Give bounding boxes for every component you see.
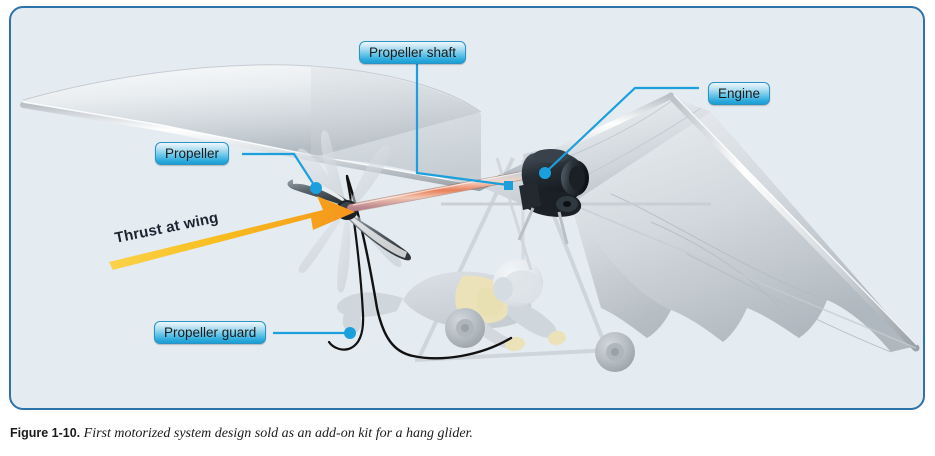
figure-caption-number: Figure 1-10. [10, 426, 80, 440]
figure-caption: Figure 1-10. First motorized system desi… [10, 426, 910, 442]
figure-frame: Propeller shaft Engine Propeller Propell… [9, 6, 925, 410]
wheel-left [445, 308, 485, 348]
figure-caption-text: First motorized system design sold as an… [84, 426, 473, 441]
callout-propeller-guard[interactable]: Propeller guard [154, 321, 266, 344]
callout-propeller[interactable]: Propeller [155, 142, 229, 165]
callout-propeller-shaft[interactable]: Propeller shaft [359, 41, 466, 64]
figure-root: Propeller shaft Engine Propeller Propell… [0, 0, 935, 456]
hang-glider-illustration [11, 8, 923, 408]
leader-endpoint-propeller-guard [344, 327, 356, 339]
callout-engine[interactable]: Engine [708, 82, 770, 105]
left-wing [23, 65, 481, 188]
leader-endpoint-engine [539, 167, 551, 179]
leader-endpoint-propeller-shaft [504, 181, 513, 190]
wheel-right [595, 332, 635, 372]
leader-endpoint-propeller [310, 182, 322, 194]
